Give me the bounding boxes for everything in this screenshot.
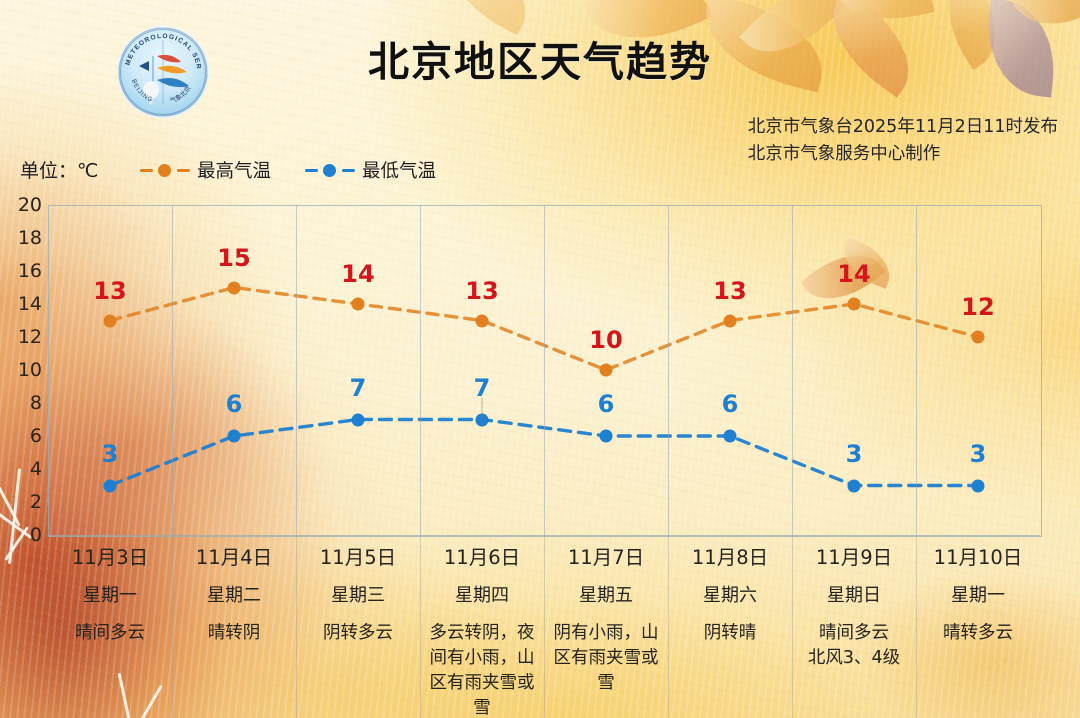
data-point-label: 6 (598, 390, 615, 418)
label-leader-tick (482, 398, 483, 420)
data-point-label: 7 (350, 374, 367, 402)
day-weather-description: 晴间多云 (48, 621, 172, 646)
data-point-label: 13 (713, 277, 746, 305)
day-weekday: 星期日 (792, 583, 916, 609)
day-weather-description: 多云转阴，夜间有小雨，山区有雨夹雪或雪 (420, 621, 544, 718)
data-point-label: 15 (217, 244, 250, 272)
gridline-vertical (916, 205, 917, 535)
y-axis-tick-8: 8 (2, 392, 42, 414)
day-weather-description: 晴转阴 (172, 621, 296, 646)
y-axis-tick-6: 6 (2, 425, 42, 447)
data-point-marker (104, 479, 117, 492)
day-weather-description: 阴有小雨，山区有雨夹雪或雪 (544, 621, 668, 696)
day-column-7: 11月9日星期日晴间多云 北风3、4级 (792, 545, 916, 671)
data-point-marker (848, 479, 861, 492)
y-axis-tick-4: 4 (2, 458, 42, 480)
gridline-vertical (296, 205, 297, 535)
data-point-label: 13 (465, 277, 498, 305)
day-date: 11月9日 (792, 545, 916, 571)
day-column-2: 11月4日星期二晴转阴 (172, 545, 296, 646)
gridline-vertical (420, 205, 421, 535)
day-date: 11月3日 (48, 545, 172, 571)
gridline-vertical (172, 205, 173, 535)
data-point-marker (228, 430, 241, 443)
y-axis-tick-2: 2 (2, 491, 42, 513)
day-weather-description: 晴转多云 (916, 621, 1040, 646)
day-weather-description: 阴转多云 (296, 621, 420, 646)
data-point-label: 3 (102, 440, 119, 468)
day-weekday: 星期五 (544, 583, 668, 609)
day-weekday: 星期四 (420, 583, 544, 609)
day-column-5: 11月7日星期五阴有小雨，山区有雨夹雪或雪 (544, 545, 668, 696)
day-column-6: 11月8日星期六阴转晴 (668, 545, 792, 646)
data-point-marker (352, 413, 365, 426)
data-point-marker (972, 479, 985, 492)
data-point-label: 10 (589, 326, 622, 354)
data-point-label: 12 (961, 293, 994, 321)
day-column-1: 11月3日星期一晴间多云 (48, 545, 172, 646)
day-weather-description: 晴间多云 北风3、4级 (792, 621, 916, 671)
data-point-marker (724, 430, 737, 443)
data-point-marker (352, 298, 365, 311)
data-point-marker (600, 430, 613, 443)
day-date: 11月10日 (916, 545, 1040, 571)
y-axis-tick-0: 0 (2, 524, 42, 546)
day-weekday: 星期一 (916, 583, 1040, 609)
data-point-label: 6 (722, 390, 739, 418)
x-axis-baseline (48, 535, 1040, 536)
day-weekday: 星期三 (296, 583, 420, 609)
gridline-vertical (544, 205, 545, 535)
day-weekday: 星期六 (668, 583, 792, 609)
y-axis-tick-20: 20 (2, 194, 42, 216)
gridline-vertical (792, 205, 793, 535)
day-date: 11月6日 (420, 545, 544, 571)
y-axis-tick-18: 18 (2, 227, 42, 249)
weather-trend-poster: METEOROLOGICAL SERVICE BEIJING 气象北京 北京地区… (0, 0, 1080, 718)
data-point-marker (228, 281, 241, 294)
data-point-label: 6 (226, 390, 243, 418)
data-point-marker (848, 298, 861, 311)
y-axis-tick-16: 16 (2, 260, 42, 282)
day-column-3: 11月5日星期三阴转多云 (296, 545, 420, 646)
data-point-marker (724, 314, 737, 327)
y-axis-tick-14: 14 (2, 293, 42, 315)
plot-area-frame (48, 205, 1042, 537)
y-axis-tick-12: 12 (2, 326, 42, 348)
day-column-8: 11月10日星期一晴转多云 (916, 545, 1040, 646)
data-point-marker (104, 314, 117, 327)
day-weather-description: 阴转晴 (668, 621, 792, 646)
day-date: 11月7日 (544, 545, 668, 571)
data-point-label: 13 (93, 277, 126, 305)
day-weekday: 星期二 (172, 583, 296, 609)
day-date: 11月8日 (668, 545, 792, 571)
gridline-vertical (668, 205, 669, 535)
day-weekday: 星期一 (48, 583, 172, 609)
data-point-marker (476, 314, 489, 327)
day-column-4: 11月6日星期四多云转阴，夜间有小雨，山区有雨夹雪或雪 (420, 545, 544, 718)
day-date: 11月5日 (296, 545, 420, 571)
data-point-label: 3 (846, 440, 863, 468)
data-point-label: 14 (341, 260, 374, 288)
data-point-marker (972, 331, 985, 344)
data-point-label: 14 (837, 260, 870, 288)
data-point-marker (600, 364, 613, 377)
data-point-label: 3 (970, 440, 987, 468)
y-axis-tick-10: 10 (2, 359, 42, 381)
day-date: 11月4日 (172, 545, 296, 571)
